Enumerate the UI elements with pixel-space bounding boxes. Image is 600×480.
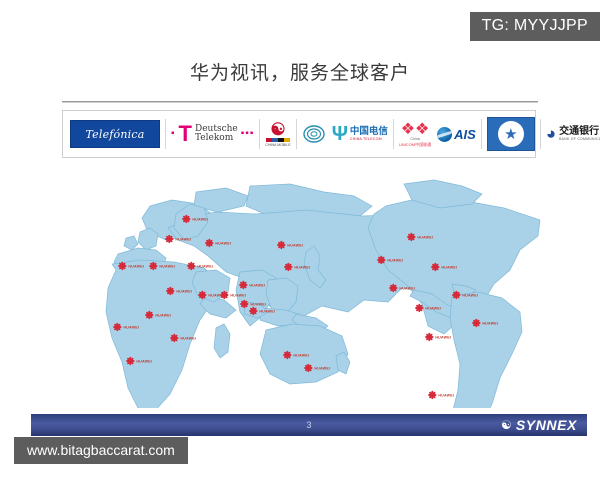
map-marker-central-africa[interactable]: HUAWEI [113,323,139,332]
map-marker-label: HUAWEI [175,237,191,241]
logo-separator [296,119,297,149]
map-marker-label: HUAWEI [287,243,303,247]
map-marker-label: HUAWEI [128,264,144,268]
page-number: 3 [306,420,311,430]
logo-teal-swirl [299,115,329,153]
huawei-flower-icon [166,287,175,296]
map-marker-australia[interactable]: HUAWEI [283,351,309,360]
map-marker-label: HUAWEI [192,217,208,221]
logo-separator [481,119,482,149]
swirl-icon [302,123,326,145]
map-marker-brazil-north[interactable]: HUAWEI [452,291,478,300]
logo-telefonica: Telefónica [67,115,163,153]
logo-deutsche-telekom: ▪ T Deutsche Telekom ▪▪▪ [168,115,257,153]
telekom-t-icon: T [179,126,192,142]
logo-separator [165,119,166,149]
map-marker-label: HUAWEI [399,286,415,290]
map-marker-label: HUAWEI [438,393,454,397]
map-marker-middle-east[interactable]: HUAWEI [187,262,213,271]
map-marker-label: HUAWEI [417,235,433,239]
map-marker-north-africa-west[interactable]: HUAWEI [118,262,144,271]
map-marker-peru[interactable]: HUAWEI [425,333,451,342]
huawei-flower-icon [239,281,248,290]
map-marker-north-africa[interactable]: HUAWEI [149,262,175,271]
logo-bank-of-communications: ◕ 交通银行 BANK OF COMMUNICATIONS [543,115,600,153]
map-marker-usa-east[interactable]: HUAWEI [431,263,457,272]
map-marker-label: HUAWEI [249,283,265,287]
huawei-flower-icon [165,235,174,244]
map-marker-western-europe[interactable]: HUAWEI [165,235,191,244]
world-map: HUAWEIHUAWEIHUAWEIHUAWEIHUAWEIHUAWEIHUAW… [0,168,600,408]
huawei-flower-icon [205,239,214,248]
map-marker-label: HUAWEI [230,293,246,297]
telefonica-wordmark: Telefónica [70,120,160,148]
logo-separator [540,119,541,149]
logo-united-nations: ★ [484,115,538,153]
map-marker-label: HUAWEI [435,335,451,339]
map-marker-label: HUAWEI [250,302,266,306]
huawei-flower-icon [283,351,292,360]
map-marker-label: HUAWEI [293,353,309,357]
map-marker-label: HUAWEI [387,258,403,262]
synnex-logo: ☯ SYNNEX [501,417,577,433]
map-marker-label: HUAWEI [314,366,330,370]
logo-china-unicom: ❖❖ China UNICOM中国联通 [396,115,434,153]
map-marker-label: HUAWEI [482,321,498,325]
china-telecom-en: CHINA TELECOM [350,137,388,142]
map-marker-new-zealand[interactable]: HUAWEI [304,364,330,373]
bocom-en: BANK OF COMMUNICATIONS [559,137,600,142]
world-map-svg [0,168,600,408]
huawei-flower-icon [126,357,135,366]
huawei-flower-icon [428,391,437,400]
footer-bar: 3 ☯ SYNNEX [31,414,587,436]
map-marker-usa-west[interactable]: HUAWEI [377,256,403,265]
map-marker-south-asia[interactable]: HUAWEI [239,281,265,290]
map-marker-label: HUAWEI [136,359,152,363]
huawei-flower-icon [118,262,127,271]
logo-separator [393,119,394,149]
ais-globe-icon [437,127,452,142]
map-marker-northern-europe[interactable]: HUAWEI [182,215,208,224]
map-marker-canada[interactable]: HUAWEI [407,233,433,242]
huawei-flower-icon [425,333,434,342]
seal-caption: CHINA MOBILE [265,143,290,147]
huawei-flower-icon [452,291,461,300]
map-marker-label: HUAWEI [176,289,192,293]
huawei-flower-icon [182,215,191,224]
map-marker-brazil[interactable]: HUAWEI [472,319,498,328]
map-marker-label: HUAWEI [215,241,231,245]
map-marker-eastern-europe[interactable]: HUAWEI [205,239,231,248]
huawei-flower-icon [431,263,440,272]
map-marker-west-africa[interactable]: HUAWEI [145,311,171,320]
slide-canvas: TG: MYYJJPP 华为视讯，服务全球客户 Telefónica ▪ T D… [0,0,600,480]
huawei-flower-icon [187,262,196,271]
huawei-flower-icon [240,300,249,309]
map-marker-label: HUAWEI [294,265,310,269]
map-marker-label: HUAWEI [441,265,457,269]
map-marker-label: HUAWEI [197,264,213,268]
map-marker-label: HUAWEI [208,293,224,297]
telekom-dots-icon: ▪ [171,131,176,137]
map-marker-label: HUAWEI [123,325,139,329]
china-telecom-cn: 中国电信 [350,127,388,137]
seal-bars-icon [266,138,290,142]
logo-separator [259,119,260,149]
telekom-line2: Telekom [195,134,238,144]
china-telecom-mark-icon: Ψ [332,125,348,143]
map-marker-chile[interactable]: HUAWEI [428,391,454,400]
un-globe-icon: ★ [504,127,517,142]
map-marker-label: HUAWEI [425,306,441,310]
huawei-flower-icon [389,284,398,293]
customer-logo-strip: Telefónica ▪ T Deutsche Telekom ▪▪▪ ☯ CH… [62,110,536,158]
bocom-cn: 交通银行 [559,126,600,137]
huawei-flower-icon [145,311,154,320]
map-marker-east-africa[interactable]: HUAWEI [170,334,196,343]
huawei-flower-icon [277,241,286,250]
map-marker-india[interactable]: HUAWEI [166,287,192,296]
map-marker-label: HUAWEI [462,293,478,297]
huawei-flower-icon [149,262,158,271]
china-unicom-knot-icon: ❖❖ [401,122,430,137]
map-marker-southeast-asia-1[interactable]: HUAWEI [198,291,224,300]
map-marker-japan[interactable]: HUAWEI [284,263,310,272]
site-watermark: www.bitagbaccarat.com [14,437,188,464]
huawei-flower-icon [170,334,179,343]
huawei-flower-icon [304,364,313,373]
map-marker-south-africa[interactable]: HUAWEI [126,357,152,366]
map-marker-label: HUAWEI [259,309,275,313]
map-marker-mexico[interactable]: HUAWEI [389,284,415,293]
map-marker-label: HUAWEI [180,336,196,340]
huawei-flower-icon [113,323,122,332]
map-marker-label: HUAWEI [159,264,175,268]
huawei-flower-icon [284,263,293,272]
china-unicom-cn: UNICOM中国联通 [399,142,431,147]
logo-china-telecom: Ψ 中国电信 CHINA TELECOM [329,115,391,153]
synnex-mark-icon: ☯ [501,419,512,431]
title-divider [62,101,538,103]
map-marker-malaysia[interactable]: HUAWEI [249,307,275,316]
map-marker-korea[interactable]: HUAWEI [277,241,303,250]
map-marker-central-america[interactable]: HUAWEI [415,304,441,313]
seal-mark-icon: ☯ [270,122,285,137]
huawei-flower-icon [377,256,386,265]
huawei-flower-icon [415,304,424,313]
un-emblem-icon: ★ [487,117,535,151]
huawei-flower-icon [407,233,416,242]
huawei-flower-icon [198,291,207,300]
synnex-wordmark: SYNNEX [516,417,577,433]
logo-ais: AIS [434,115,479,153]
page-title: 华为视讯，服务全球客户 [0,58,600,85]
ais-wordmark: AIS [454,127,476,142]
telekom-dots-icon-2: ▪▪▪ [241,131,255,137]
telegram-watermark: TG: MYYJJPP [470,12,600,41]
map-marker-label: HUAWEI [155,313,171,317]
huawei-flower-icon [249,307,258,316]
huawei-flower-icon [472,319,481,328]
bocom-mark-icon: ◕ [546,126,556,142]
logo-red-seal: ☯ CHINA MOBILE [262,115,293,153]
